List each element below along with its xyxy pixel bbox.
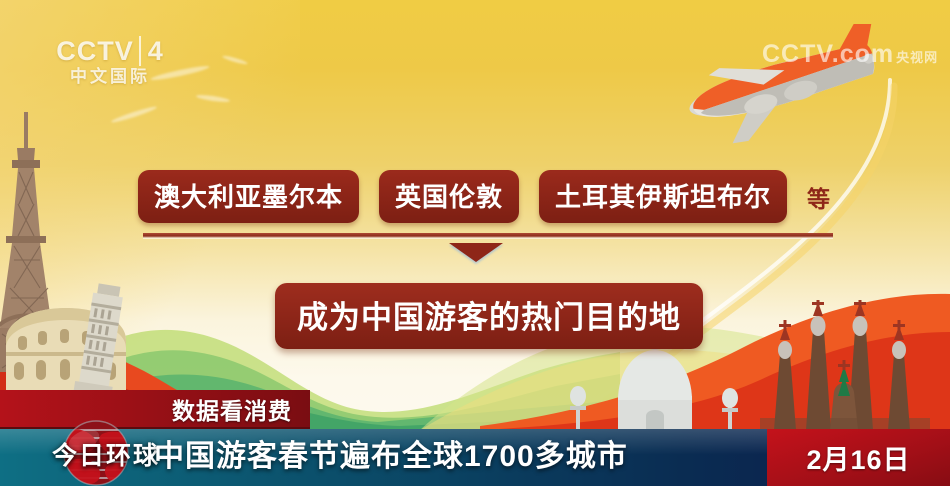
conclusion-banner: 成为中国游客的热门目的地 [275, 283, 703, 349]
channel-logo: CCTV4 中文国际 [44, 36, 176, 87]
channel-logo-subtitle: 中文国际 [44, 67, 176, 87]
city-pill-melbourne[interactable]: 澳大利亚墨尔本 [138, 170, 359, 223]
broadcast-screenshot: CCTV4 中文国际 CCTV.com央视网 [0, 0, 950, 486]
chevron-down-icon [449, 243, 503, 262]
city-pill-istanbul[interactable]: 土耳其伊斯坦布尔 [539, 170, 787, 223]
leaning-tower-of-pisa-icon [64, 280, 124, 400]
topic-label: 数据看消费 [172, 392, 292, 426]
date-block: 2月16日 [767, 429, 950, 486]
date-text: 2月16日 [806, 438, 910, 477]
program-name: 今日环球 [52, 436, 160, 472]
news-headline: 中国游客春节遍布全球1700多城市 [154, 431, 628, 475]
watermark-main-text: CCTV.com [762, 40, 894, 68]
destination-city-list: 澳大利亚墨尔本 英国伦敦 土耳其伊斯坦布尔 等 [138, 170, 830, 223]
city-pill-london[interactable]: 英国伦敦 [379, 170, 519, 223]
channel-logo-row1: CCTV4 [44, 36, 176, 66]
lower-third-bar: 今日环球 中国游客春节遍布全球1700多城市 2月16日 [0, 429, 950, 486]
channel-logo-number: 4 [139, 36, 164, 66]
channel-logo-text: CCTV [56, 36, 134, 66]
topic-strip: 数据看消费 [0, 390, 310, 429]
cctv-com-watermark: CCTV.com央视网 [762, 40, 938, 69]
watermark-chinese-text: 央视网 [896, 50, 938, 65]
sagrada-familia-icon [760, 300, 930, 430]
divider-line [143, 233, 833, 238]
etc-label: 等 [807, 180, 830, 214]
